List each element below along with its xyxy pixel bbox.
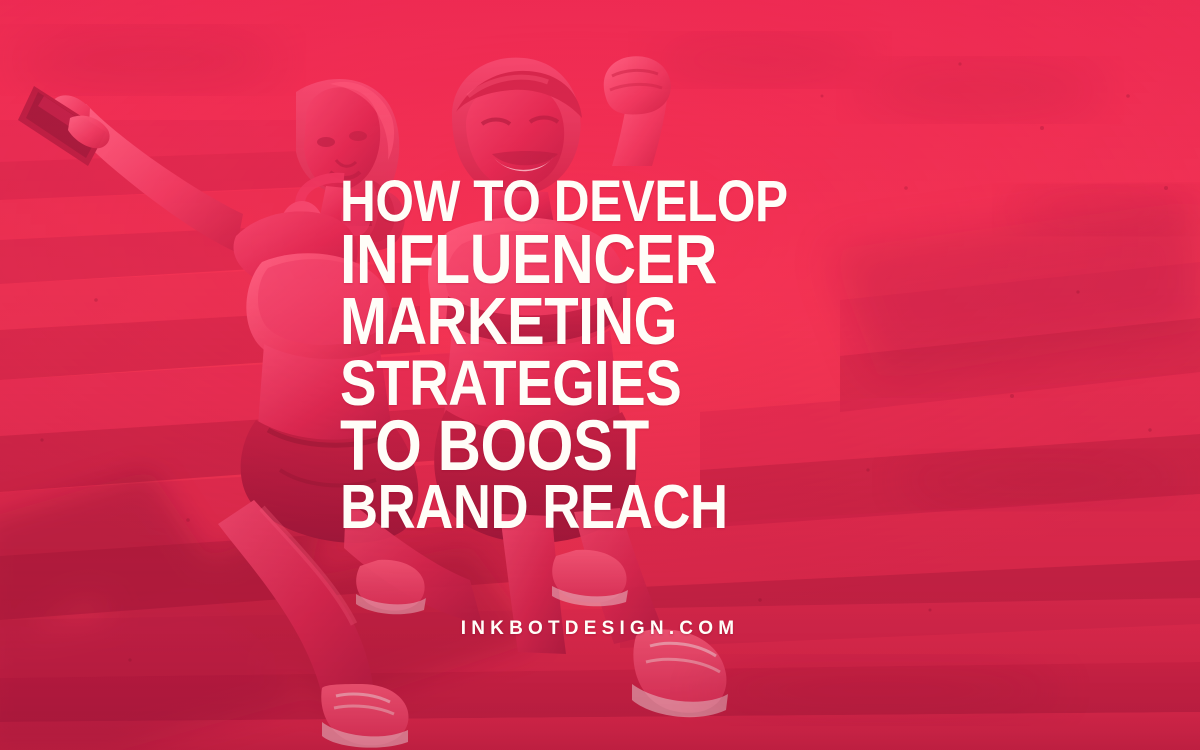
headline-line-6: BRAND REACH [340, 479, 789, 537]
site-url: INKBOTDESIGN.COM [0, 618, 1200, 640]
feature-image-poster: HOW TO DEVELOP INFLUENCER MARKETING STRA… [0, 0, 1200, 750]
headline-block: HOW TO DEVELOP INFLUENCER MARKETING STRA… [340, 176, 868, 537]
headline-line-4: STRATEGIES [340, 353, 791, 414]
headline-line-2: INFLUENCER [340, 228, 786, 291]
headline-line-5: TO BOOST [340, 414, 786, 479]
headline-line-3: MARKETING [340, 291, 784, 353]
